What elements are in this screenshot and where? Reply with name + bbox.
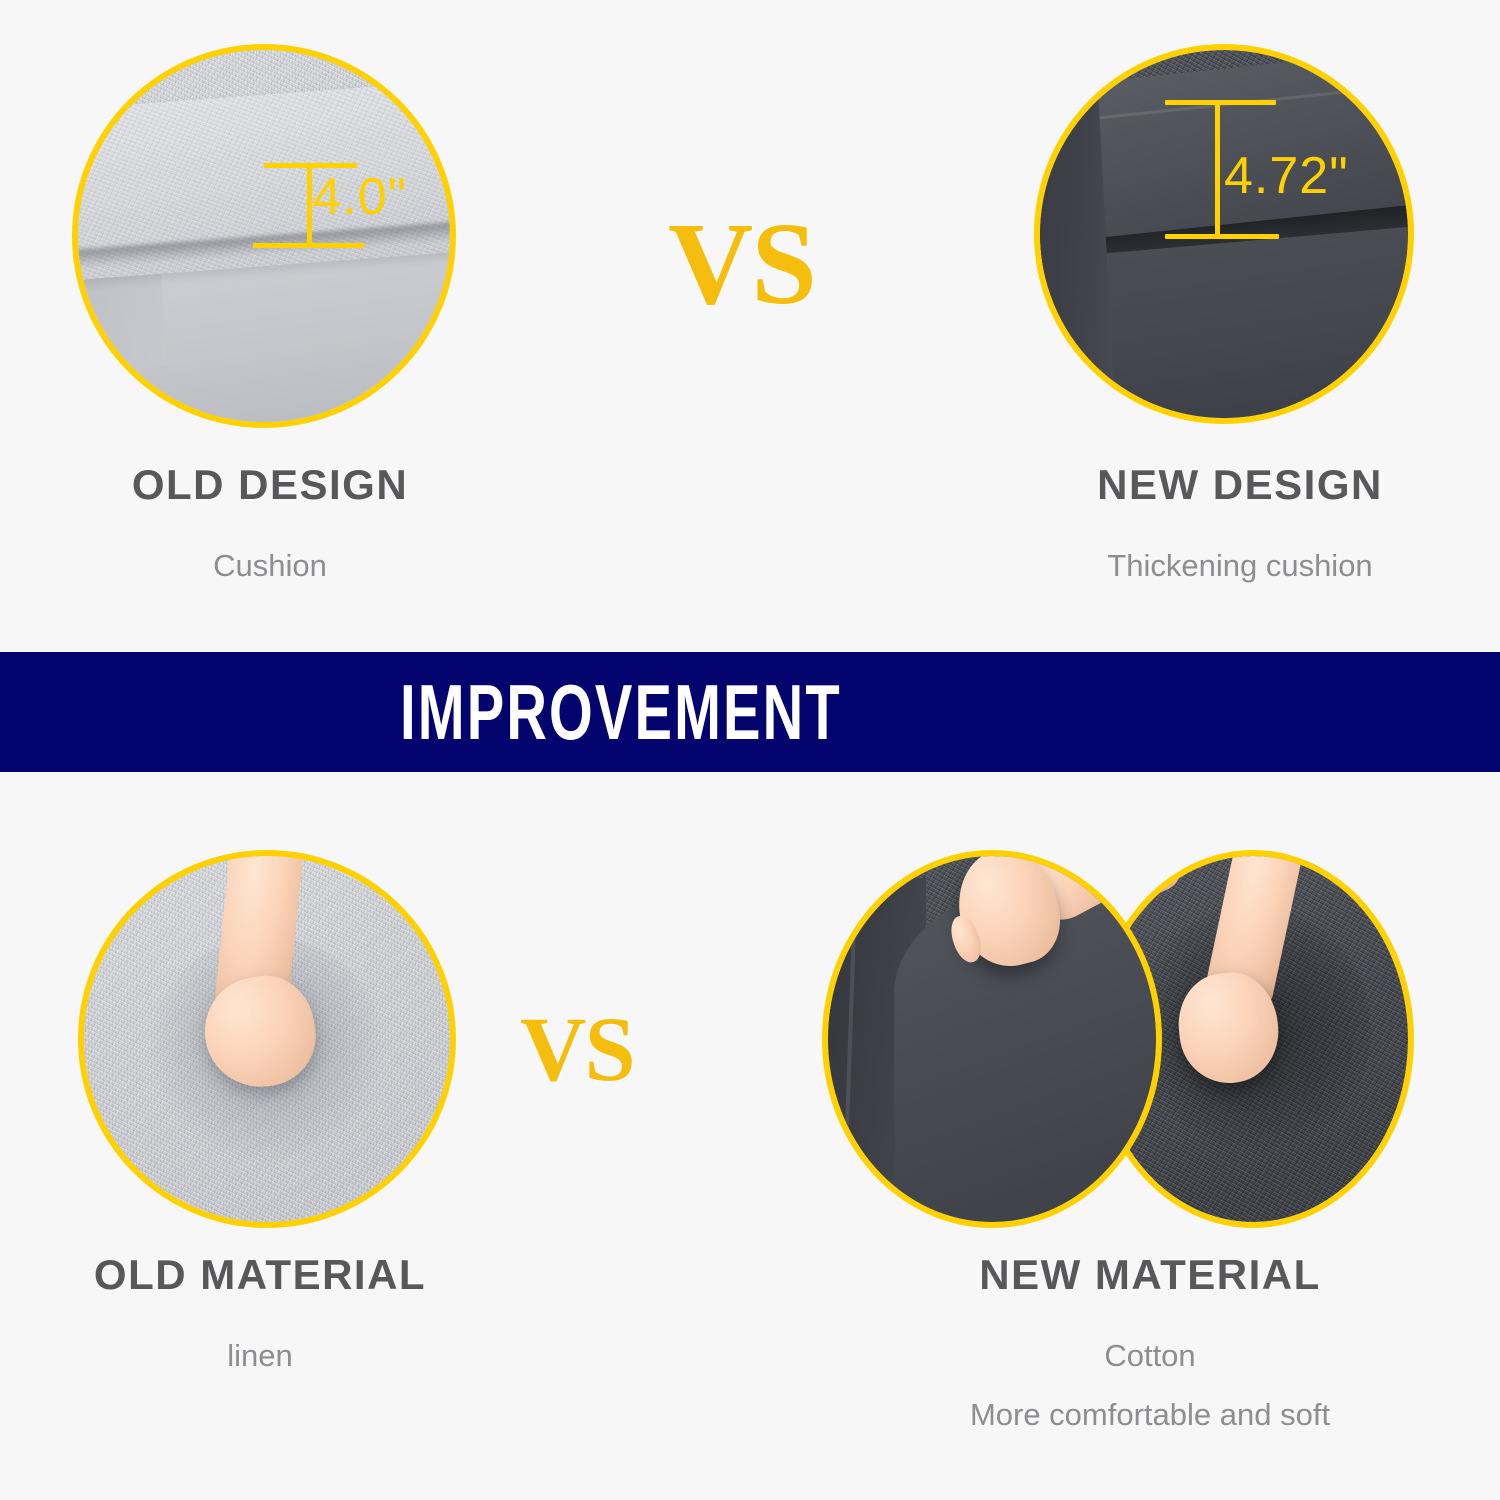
vs-divider-bottom: VS bbox=[520, 996, 634, 1102]
new-material-caption: NEW MATERIAL Cotton More comfortable and… bbox=[880, 1252, 1420, 1438]
new-material-subtitle-primary: Cotton bbox=[880, 1334, 1420, 1379]
new-design-photo: 4.72" bbox=[1040, 50, 1408, 418]
improvement-comparison-infographic: 4.0" 4.72" VS OLD DESIGN Cushion N bbox=[0, 0, 1500, 1500]
improvement-banner-title: IMPROVEMENT bbox=[400, 667, 842, 758]
old-design-photo-circle: 4.0" bbox=[72, 44, 456, 428]
new-design-title: NEW DESIGN bbox=[1010, 462, 1470, 508]
new-design-subtitle: Thickening cushion bbox=[1010, 544, 1470, 589]
new-material-subtitle-secondary: More comfortable and soft bbox=[880, 1393, 1420, 1438]
vs-divider-top: VS bbox=[668, 196, 815, 332]
new-design-caption: NEW DESIGN Thickening cushion bbox=[1010, 462, 1470, 589]
old-material-title: OLD MATERIAL bbox=[30, 1252, 490, 1298]
new-design-photo-circle: 4.72" bbox=[1034, 44, 1414, 424]
old-design-photo: 4.0" bbox=[78, 50, 450, 422]
new-material-photo-circle-left bbox=[822, 850, 1162, 1228]
old-design-subtitle: Cushion bbox=[40, 544, 500, 589]
new-material-grip-photo bbox=[828, 856, 1156, 1222]
old-material-caption: OLD MATERIAL linen bbox=[30, 1252, 490, 1379]
old-material-subtitle: linen bbox=[30, 1334, 490, 1379]
old-material-photo bbox=[84, 856, 450, 1222]
old-material-photo-circle bbox=[78, 850, 456, 1228]
new-material-title: NEW MATERIAL bbox=[880, 1252, 1420, 1298]
old-design-caption: OLD DESIGN Cushion bbox=[40, 462, 500, 589]
improvement-banner: IMPROVEMENT bbox=[0, 652, 1500, 772]
old-design-title: OLD DESIGN bbox=[40, 462, 500, 508]
